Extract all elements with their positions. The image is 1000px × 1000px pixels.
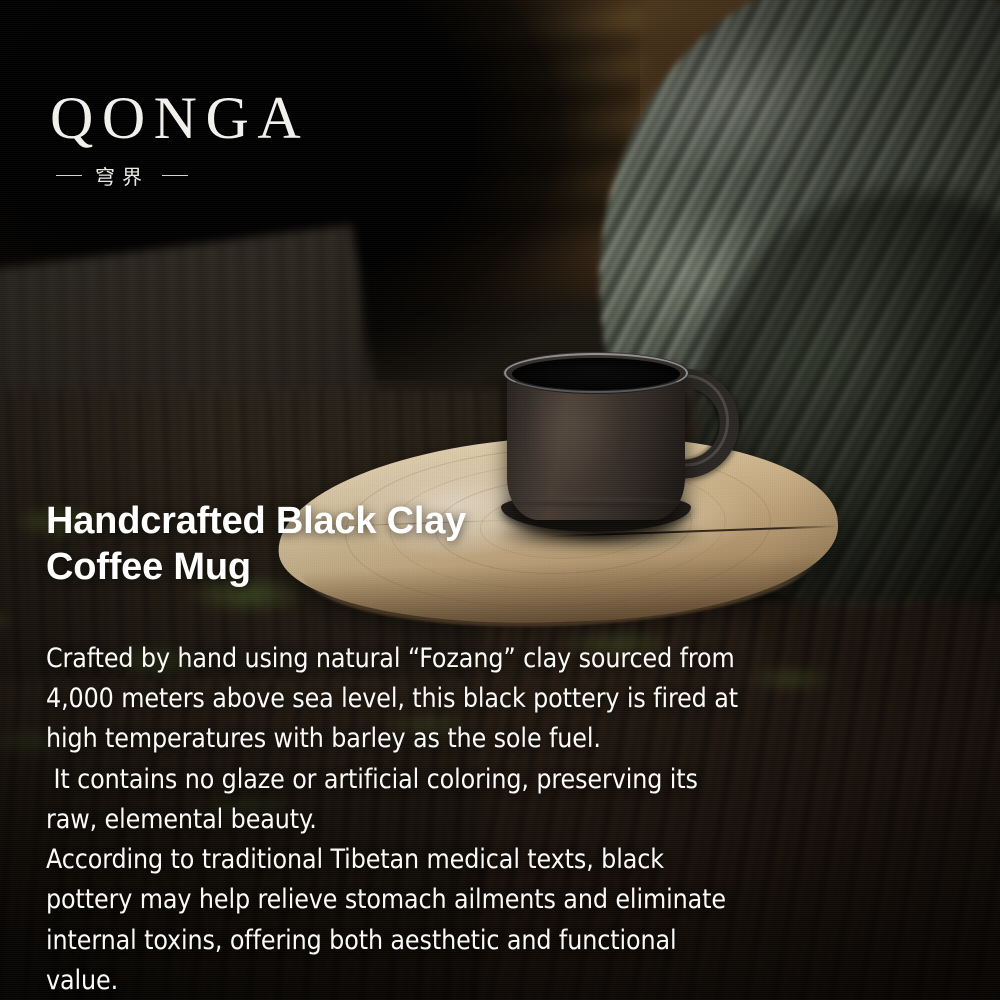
- dash-left-icon: [56, 175, 82, 177]
- description-paragraph: It contains no glaze or artificial color…: [46, 760, 746, 841]
- mug-surface-sheen: [535, 392, 627, 488]
- brand-logo: QONGA 穹界: [50, 88, 310, 190]
- product-description: Crafted by hand using natural “Fozang” c…: [46, 639, 746, 1000]
- mug-rim-highlight: [504, 353, 688, 393]
- product-poster: QONGA 穹界 Handcrafted Black Clay Coffee M…: [0, 0, 1000, 1000]
- brand-subtitle: 穹界: [50, 161, 310, 190]
- headline-line-2: Coffee Mug: [46, 546, 251, 588]
- brand-wordmark: QONGA: [50, 88, 310, 148]
- brand-chinese-name: 穹界: [95, 161, 149, 190]
- headline-line-1: Handcrafted Black Clay: [46, 500, 466, 542]
- product-headline: Handcrafted Black Clay Coffee Mug: [46, 498, 746, 591]
- dash-right-icon: [162, 175, 188, 177]
- description-paragraph: Crafted by hand using natural “Fozang” c…: [46, 639, 746, 760]
- product-copy: Handcrafted Black Clay Coffee Mug Crafte…: [46, 498, 746, 1000]
- description-paragraph: According to traditional Tibetan medical…: [46, 840, 746, 1000]
